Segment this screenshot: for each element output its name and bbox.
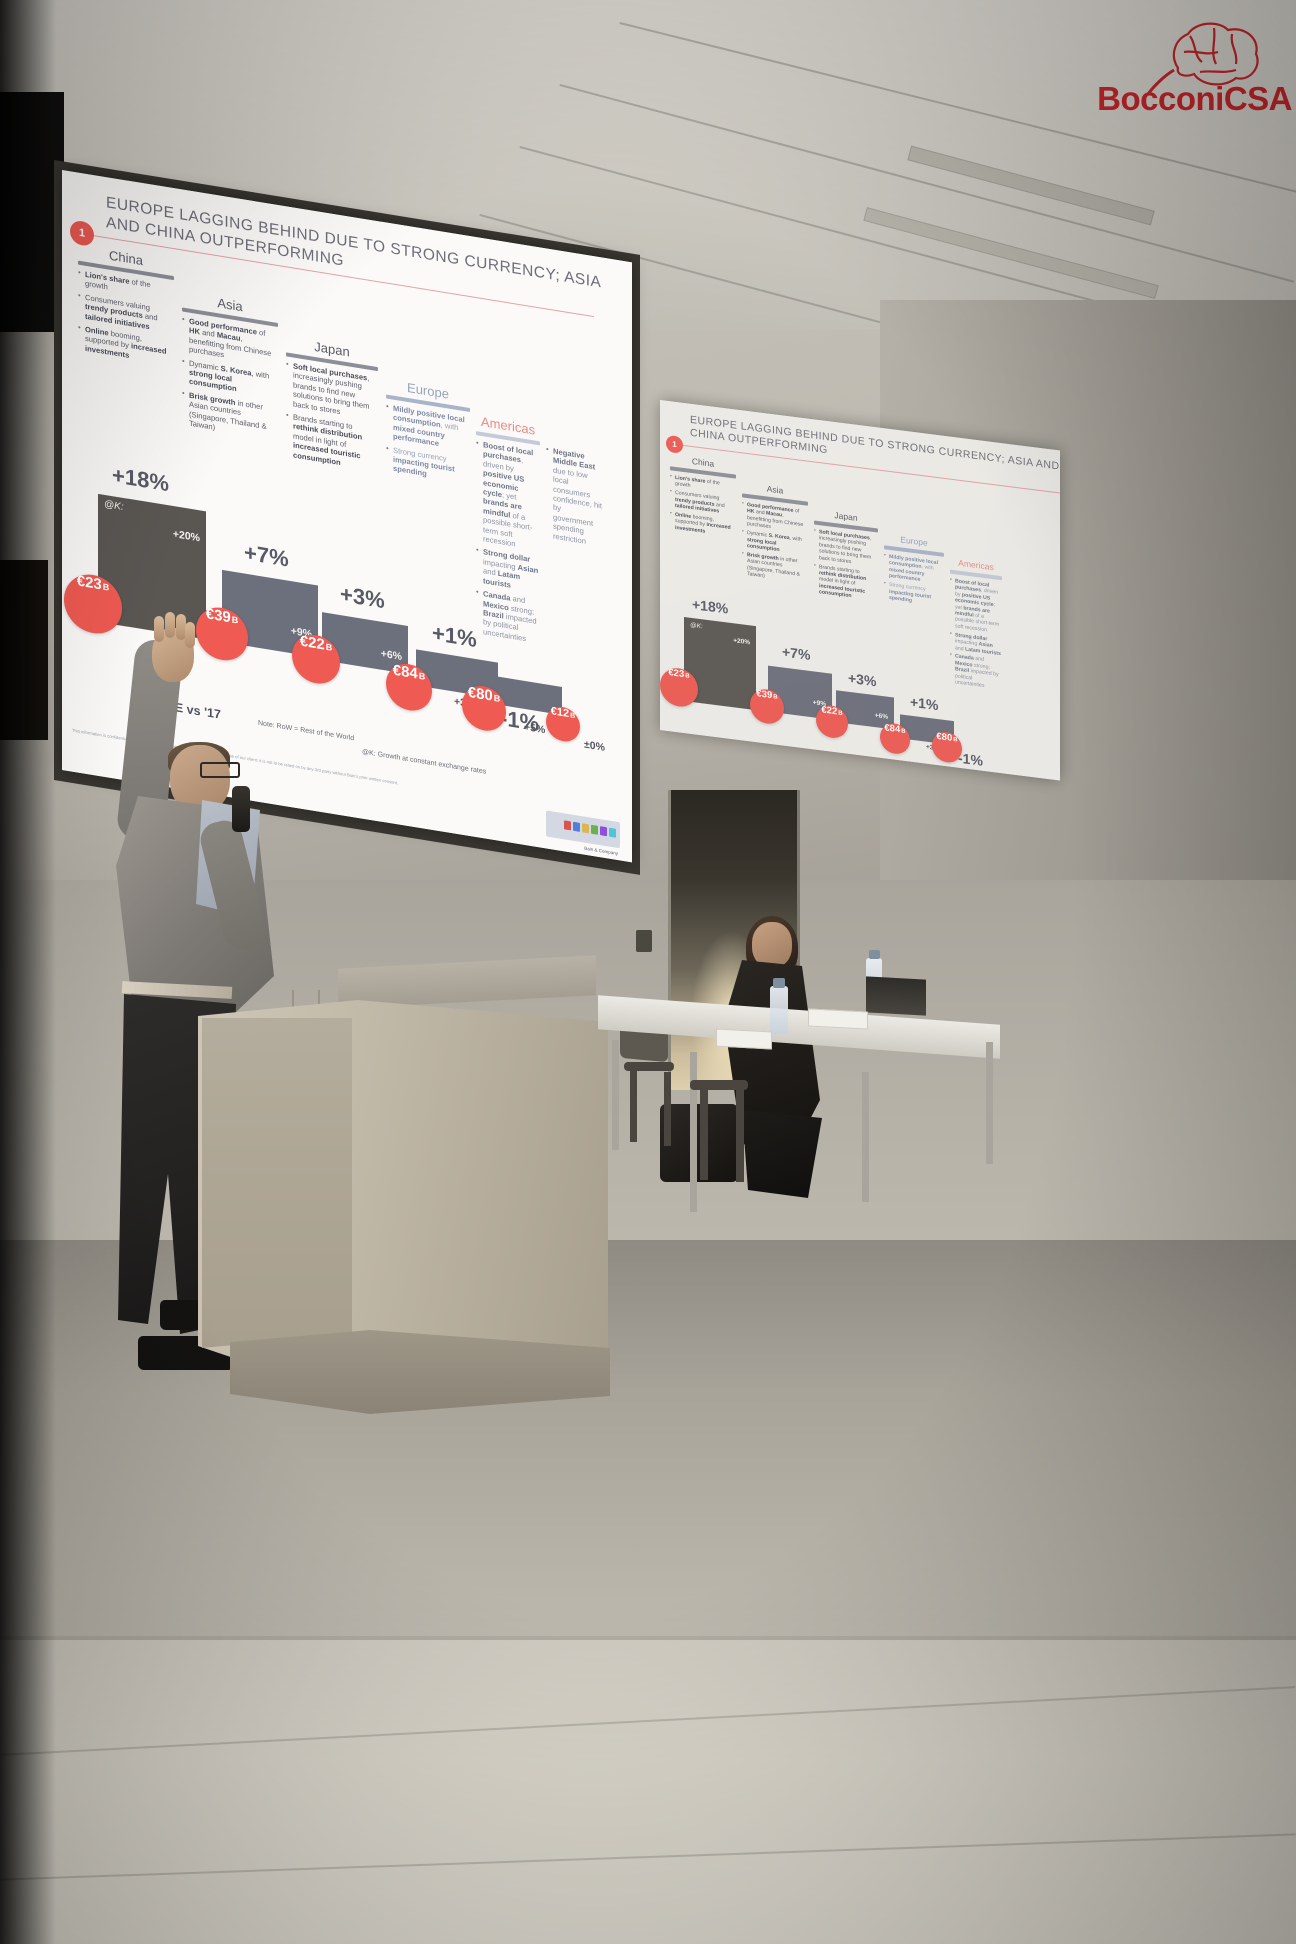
bubble-unit: B [773,694,777,701]
brand-watermark: BocconiCSA [992,8,1292,128]
growth-label: -1% [958,750,983,769]
column-japan: Japan Soft local purchases, increasingly… [286,334,378,477]
panelist-head [752,922,792,968]
growth-label: +18% [692,596,728,617]
bullet-item: Boost of local purchases, driven by posi… [950,578,1002,636]
bubble-amount: €22 [300,633,325,654]
column-asia: Asia Good performance of HK and Macau, b… [182,289,278,446]
panelist-legs [742,1110,822,1198]
bubble-unit: B [685,673,689,680]
projection-screen-secondary: EUROPE LAGGING BEHIND DUE TO STRONG CURR… [660,400,1060,781]
chair-seat [690,1080,748,1090]
chair-leg [664,1072,671,1146]
column-china: China Lion's share of the growthConsumer… [670,453,736,541]
bottle-cap [869,950,880,959]
column-row: RoW Negative Middle East due to low loca… [546,442,602,552]
table-leg [986,1042,993,1164]
bubble-unit: B [232,614,239,625]
bullet-list: Mildly positive local consumption, with … [884,553,944,608]
bullet-list: Good performance of HK and Macau, benefi… [742,501,808,585]
bullet-list: Soft local purchases, increasingly pushi… [814,528,878,603]
podium-side-face [202,1018,352,1348]
bubble-amount: €39 [206,605,231,626]
bubble-unit: B [326,642,333,653]
footnote-row: Note: RoW = Rest of the World [258,720,354,743]
column-europe: Europe Mildly positive local consumption… [386,376,470,489]
bubble-amount: €12 [551,705,569,720]
value-bubble: €12 B [546,704,580,744]
bullet-item: Brisk growth in other Asian countries (S… [742,551,808,585]
bullet-list: Good performance of HK and Macau, benefi… [182,315,278,442]
brand-part-one: Bocconi [1097,80,1224,117]
bubble-amount: €84 [393,662,418,683]
bubble-unit: B [901,728,905,735]
bullet-item: Mildly positive local consumption, with … [884,553,944,586]
bubble-unit: B [838,711,842,718]
bubble-amount: €80 [936,731,952,744]
microphone[interactable] [232,786,250,832]
table-leg [612,1040,619,1150]
growth-label: +7% [244,539,289,572]
presenter-hand [152,628,194,682]
brand-name: BocconiCSA [1097,80,1292,118]
slide-secondary: EUROPE LAGGING BEHIND DUE TO STRONG CURR… [660,400,1060,781]
name-placard [808,1008,868,1029]
at-constant-value: +20% [173,528,200,544]
bubble-amount: €84 [884,722,900,735]
bullet-item: Brands starting to rethink distribution … [286,411,378,473]
bubble-amount: €80 [468,684,493,705]
column-china: China Lion's share of the growthConsumer… [78,243,174,372]
water-bottle[interactable] [770,986,788,1034]
footnote-atk: @K: Growth at constant exchange rates [362,749,486,776]
growth-label: +1% [910,694,938,714]
bubble-unit: B [570,712,575,720]
at-constant-value: +6% [381,648,402,663]
at-constant-label: @K: [690,622,703,631]
bullet-list: Mildly positive local consumption, with … [386,402,470,485]
bullet-list: Lion's share of the growthConsumers valu… [78,269,174,368]
chair-leg [630,1070,637,1142]
bubble-amount: €23 [77,572,102,593]
bullet-list: Negative Middle East due to low local co… [546,445,602,548]
camera-equipment [866,976,926,1015]
table-leg [862,1072,869,1202]
bottle-cap [773,978,785,988]
growth-label: +7% [782,643,810,663]
footer-period: '18E vs '17 [722,753,762,767]
presenter-glasses [200,762,240,778]
lecture-hall-photo: EUROPE LAGGING BEHIND DUE TO STRONG CURR… [0,0,1296,1944]
growth-label: +3% [340,581,385,614]
left-vignette [0,0,56,1944]
chair-leg [700,1090,708,1180]
bubble-amount: €22 [821,704,837,717]
bubble-amount: €39 [756,688,772,701]
bubble-unit: B [494,693,501,704]
bubble-unit: B [419,671,426,682]
table-leg [690,1052,697,1212]
growth-label: +3% [848,670,876,690]
bullet-item: Brands starting to rethink distribution … [814,563,878,603]
footnote-row: Note: RoW = Rest of the World [788,764,851,777]
chair-leg [736,1090,744,1182]
bubble-unit: B [103,582,110,593]
at-constant-value: +6% [875,712,888,721]
bag [660,1104,738,1182]
name-placard [716,1029,772,1050]
bubble-unit: B [953,737,957,744]
bullet-list: Lion's share of the growthConsumers valu… [670,474,736,539]
at-constant-value: +20% [733,637,750,646]
bubble-amount: €23 [668,667,684,680]
at-constant-label: @K: [104,499,124,513]
growth-label: +1% [432,620,477,653]
brand-part-two: CSA [1224,80,1292,117]
floor-marble [0,1640,1296,1944]
wall-switch[interactable] [636,930,652,952]
bullet-list: Soft local purchases, increasingly pushi… [286,360,378,473]
column-japan: Japan Soft local purchases, increasingly… [814,507,878,605]
bullet-item: Negative Middle East due to low local co… [546,445,602,548]
column-asia: Asia Good performance of HK and Macau, b… [742,480,808,587]
bullet-item: Soft local purchases, increasingly pushi… [814,528,878,568]
column-europe: Europe Mildly positive local consumption… [884,532,944,610]
value-bubble: €80 B [932,730,962,764]
